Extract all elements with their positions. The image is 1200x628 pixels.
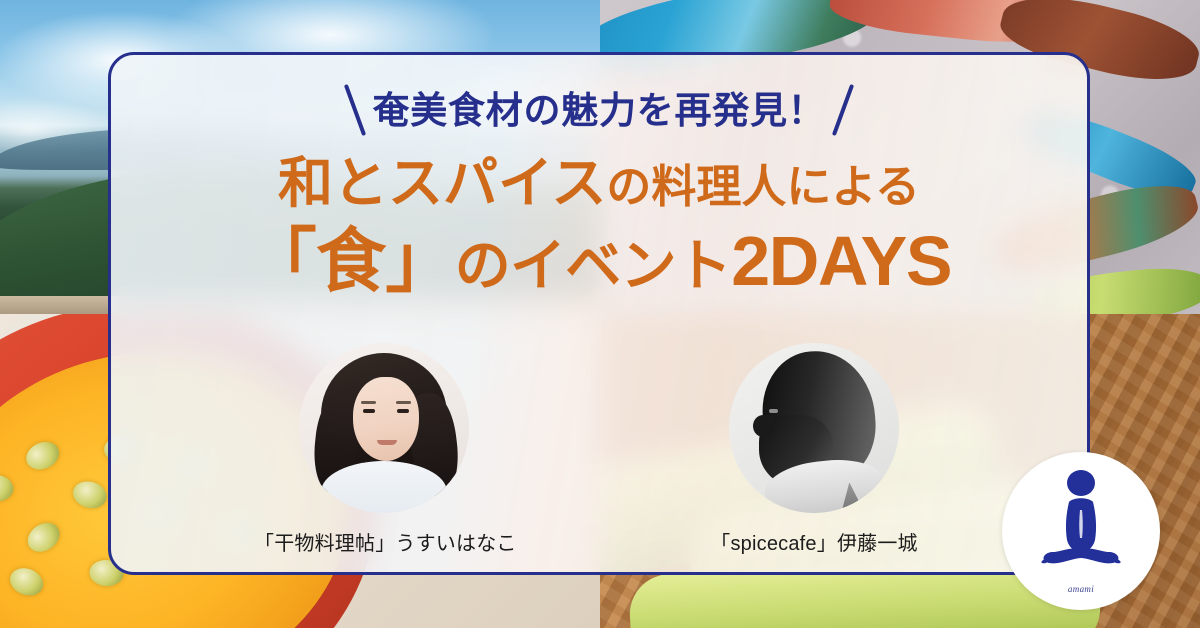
title-line-1-main: 和とスパイス [278,152,606,214]
fruit-seed [0,473,15,502]
poster-canvas: 奄美食材の魅力を再発見！ 和とスパイスの料理人による 「食」のイベント2DAYS [0,0,1200,628]
title-line-2-main: 「食」 [247,222,455,300]
title-line-2-sub: のイベント [455,234,732,297]
title-line-1: 和とスパイスの料理人による [111,151,1087,216]
title-line-2-days: 2DAYS [731,222,951,300]
chef-card-ito: 「spicecafe」伊藤一城 [684,343,944,556]
chef-card-hanako: 「干物料理帖」うすいはなこ [254,343,514,556]
chefs-row: 「干物料理帖」うすいはなこ 「spicecafe」伊藤一城 [111,343,1087,556]
badge-script-text: amami [1002,584,1160,594]
fruit-seed [6,563,47,600]
poster-card: 奄美食材の魅力を再発見！ 和とスパイスの料理人による 「食」のイベント2DAYS [108,52,1090,575]
slash-right-icon [832,84,854,136]
slash-left-icon [343,84,365,136]
seated-figure-brush-icon [1033,468,1129,572]
collar-shape [836,481,865,513]
logo-badge: amami [1002,452,1160,610]
eyebrow-shape [361,401,376,404]
kicker-row: 奄美食材の魅力を再発見！ [111,83,1087,137]
eye-shape [363,409,375,413]
title-line-1-sub: の料理人による [606,161,920,212]
title-block: 和とスパイスの料理人による 「食」のイベント2DAYS [111,151,1087,302]
chef-name-label: 「干物料理帖」うすいはなこ [254,527,514,556]
chef-name-label: 「spicecafe」伊藤一城 [684,527,944,556]
nose-shape [753,415,773,437]
kicker-text: 奄美食材の魅力を再発見！ [373,92,826,129]
fruit-seed [22,517,65,558]
eye-shape [769,409,778,413]
avatar [729,343,899,513]
avatar [299,343,469,513]
fruit-seed [70,478,110,512]
eyebrow-shape [396,401,411,404]
eye-shape [397,409,409,413]
mouth-shape [377,440,397,445]
face-shape [353,377,419,461]
title-line-2: 「食」のイベント2DAYS [111,220,1087,303]
fruit-seed [22,437,64,475]
